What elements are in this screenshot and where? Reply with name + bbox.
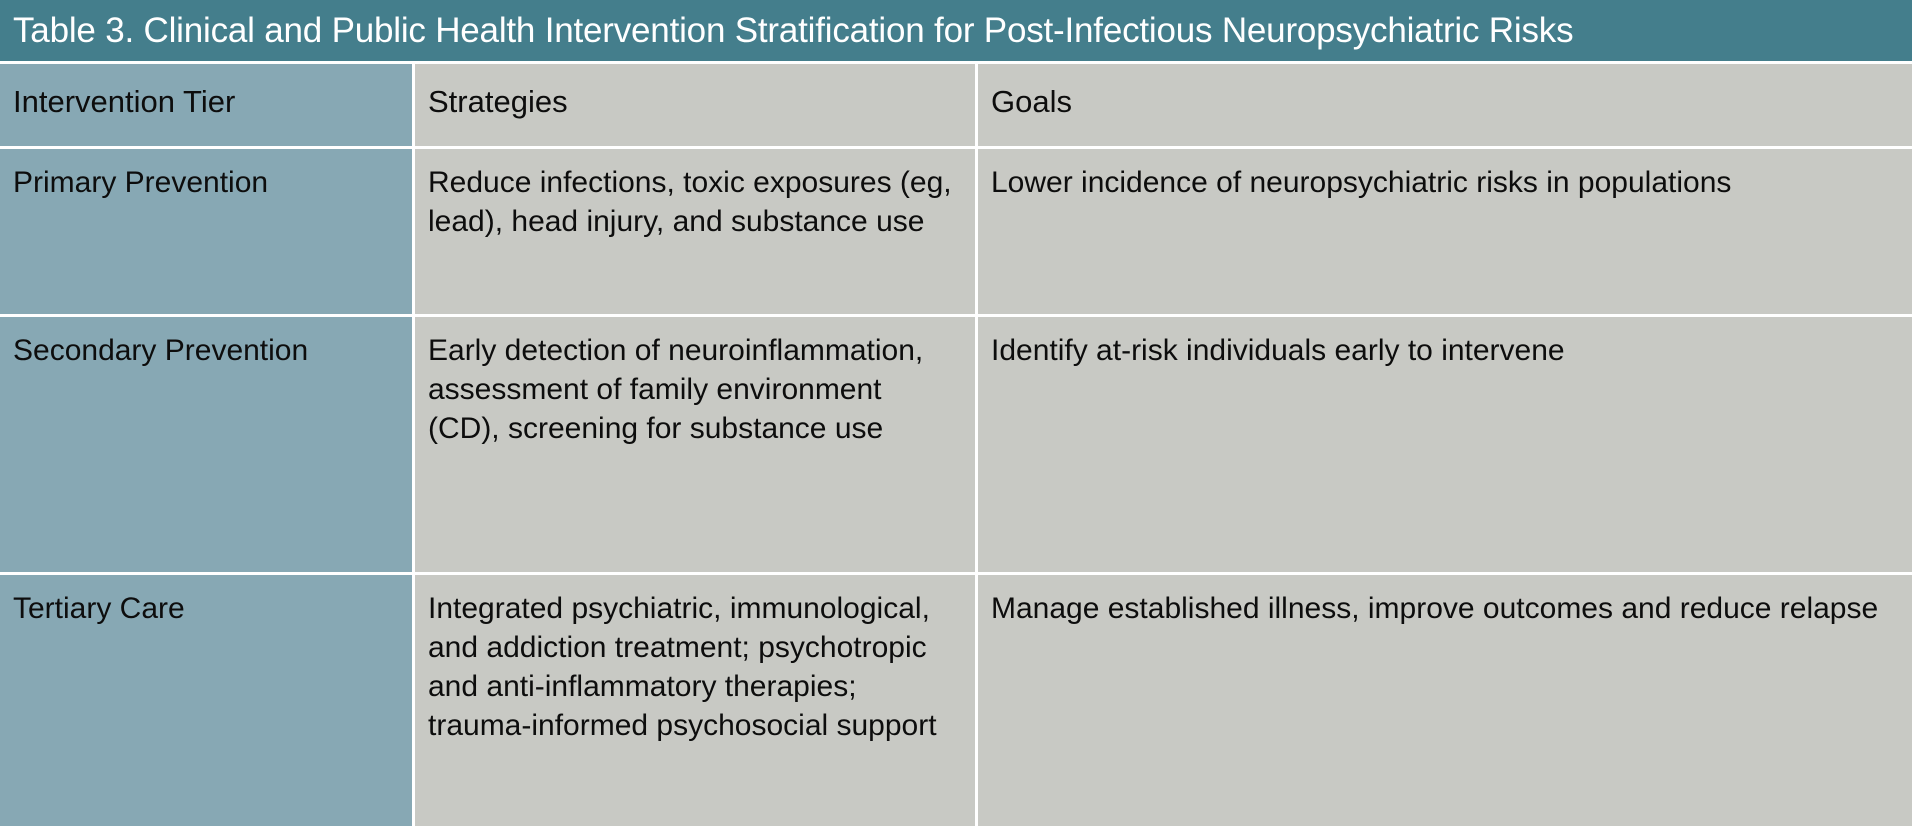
table-title: Table 3. Clinical and Public Health Inte… <box>0 0 1912 61</box>
column-header-intervention-tier: Intervention Tier <box>0 64 412 146</box>
table-row-tier: Primary Prevention <box>0 149 412 314</box>
table-row-goals: Manage established illness, improve outc… <box>978 575 1912 826</box>
column-header-strategies: Strategies <box>415 64 975 146</box>
table-container: Table 3. Clinical and Public Health Inte… <box>0 0 1912 814</box>
table-row-strategies: Early detection of neuroinflammation, as… <box>415 317 975 572</box>
table-row-goals: Identify at-risk individuals early to in… <box>978 317 1912 572</box>
table-row-goals: Lower incidence of neuropsychiatric risk… <box>978 149 1912 314</box>
table-row-strategies: Reduce infections, toxic exposures (eg, … <box>415 149 975 314</box>
table-grid: Intervention Tier Strategies Goals Prima… <box>0 61 1912 814</box>
column-header-goals: Goals <box>978 64 1912 146</box>
table-row-strategies: Integrated psychiatric, immunological, a… <box>415 575 975 826</box>
table-row-tier: Tertiary Care <box>0 575 412 826</box>
table-row-tier: Secondary Prevention <box>0 317 412 572</box>
